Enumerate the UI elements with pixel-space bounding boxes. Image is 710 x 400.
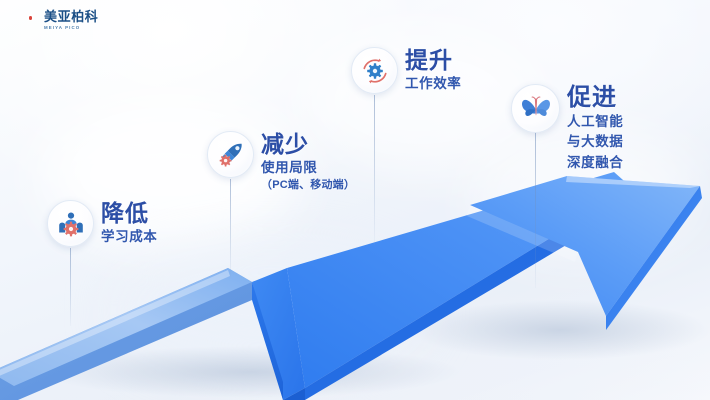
slide-canvas: 美亚柏科 MEIYA PICO (0, 0, 710, 400)
callout-heading: 减少 (261, 132, 355, 156)
brand-name-en: MEIYA PICO (44, 26, 98, 30)
callout-heading: 降低 (101, 201, 157, 225)
connector-line (374, 95, 375, 245)
callout-subtitle: 使用局限 (261, 159, 355, 176)
callout-subtitle-line1: 人工智能 (567, 113, 623, 130)
person-gear-icon (47, 200, 94, 247)
connector-line (230, 179, 231, 279)
callout-promote-ai-bigdata-fusion[interactable]: 促进 人工智能 与大数据 深度融合 (511, 84, 623, 171)
shield-badge-icon (22, 10, 39, 29)
callout-subtitle: 工作效率 (405, 75, 461, 92)
callout-heading: 促进 (567, 85, 623, 110)
callout-note: （PC端、移动端） (261, 178, 355, 192)
callout-reduce-usage-limits[interactable]: 减少 使用局限 （PC端、移动端） (207, 131, 355, 192)
gear-refresh-icon (351, 47, 398, 94)
rocket-gear-icon (207, 131, 254, 178)
connector-line (70, 248, 71, 326)
callout-improve-work-efficiency[interactable]: 提升 工作效率 (351, 47, 461, 94)
callout-reduce-learning-cost[interactable]: 降低 学习成本 (47, 200, 157, 247)
callout-heading: 提升 (405, 48, 461, 72)
callout-subtitle: 学习成本 (101, 228, 157, 245)
brand-logo: 美亚柏科 MEIYA PICO (22, 10, 98, 30)
callout-subtitle-line3: 深度融合 (567, 154, 623, 171)
butterfly-icon (511, 84, 560, 133)
callout-subtitle-line2: 与大数据 (567, 133, 623, 150)
brand-name-cn: 美亚柏科 (44, 10, 98, 23)
